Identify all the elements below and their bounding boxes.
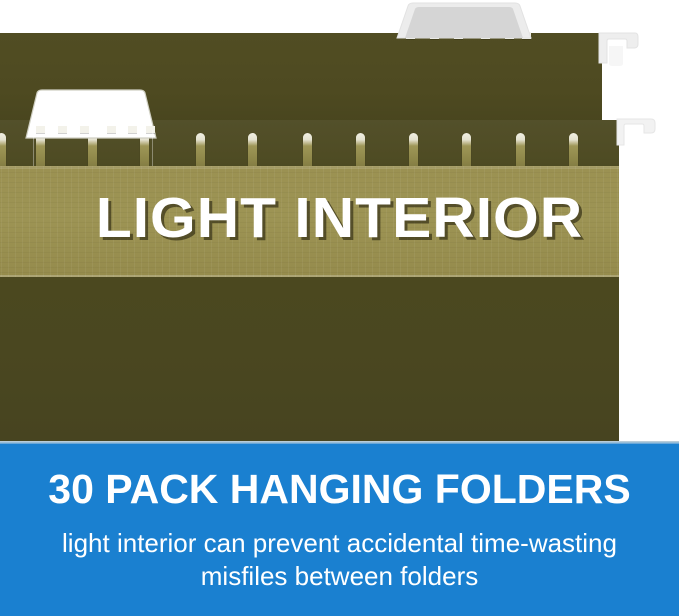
banner-title: 30 PACK HANGING FOLDERS xyxy=(0,466,679,512)
product-photo: LIGHT INTERIOR xyxy=(0,0,679,441)
folder-lower-panel xyxy=(0,277,619,441)
info-banner: 30 PACK HANGING FOLDERS light interior c… xyxy=(0,441,679,616)
grey-insert-tab xyxy=(396,2,532,39)
banner-subtitle-line-2: misfiles between folders xyxy=(18,560,661,593)
banner-subtitle-line-1: light interior can prevent accidental ti… xyxy=(18,527,661,560)
banner-subtitle: light interior can prevent accidental ti… xyxy=(18,527,661,593)
interior-headline: LIGHT INTERIOR xyxy=(0,187,679,249)
product-image: LIGHT INTERIOR 30 PACK HANGING FOLDERS l… xyxy=(0,0,679,616)
hook-upper-right-icon xyxy=(597,30,639,66)
tab-outline xyxy=(33,130,153,167)
hook-lower-right-icon xyxy=(615,117,657,147)
